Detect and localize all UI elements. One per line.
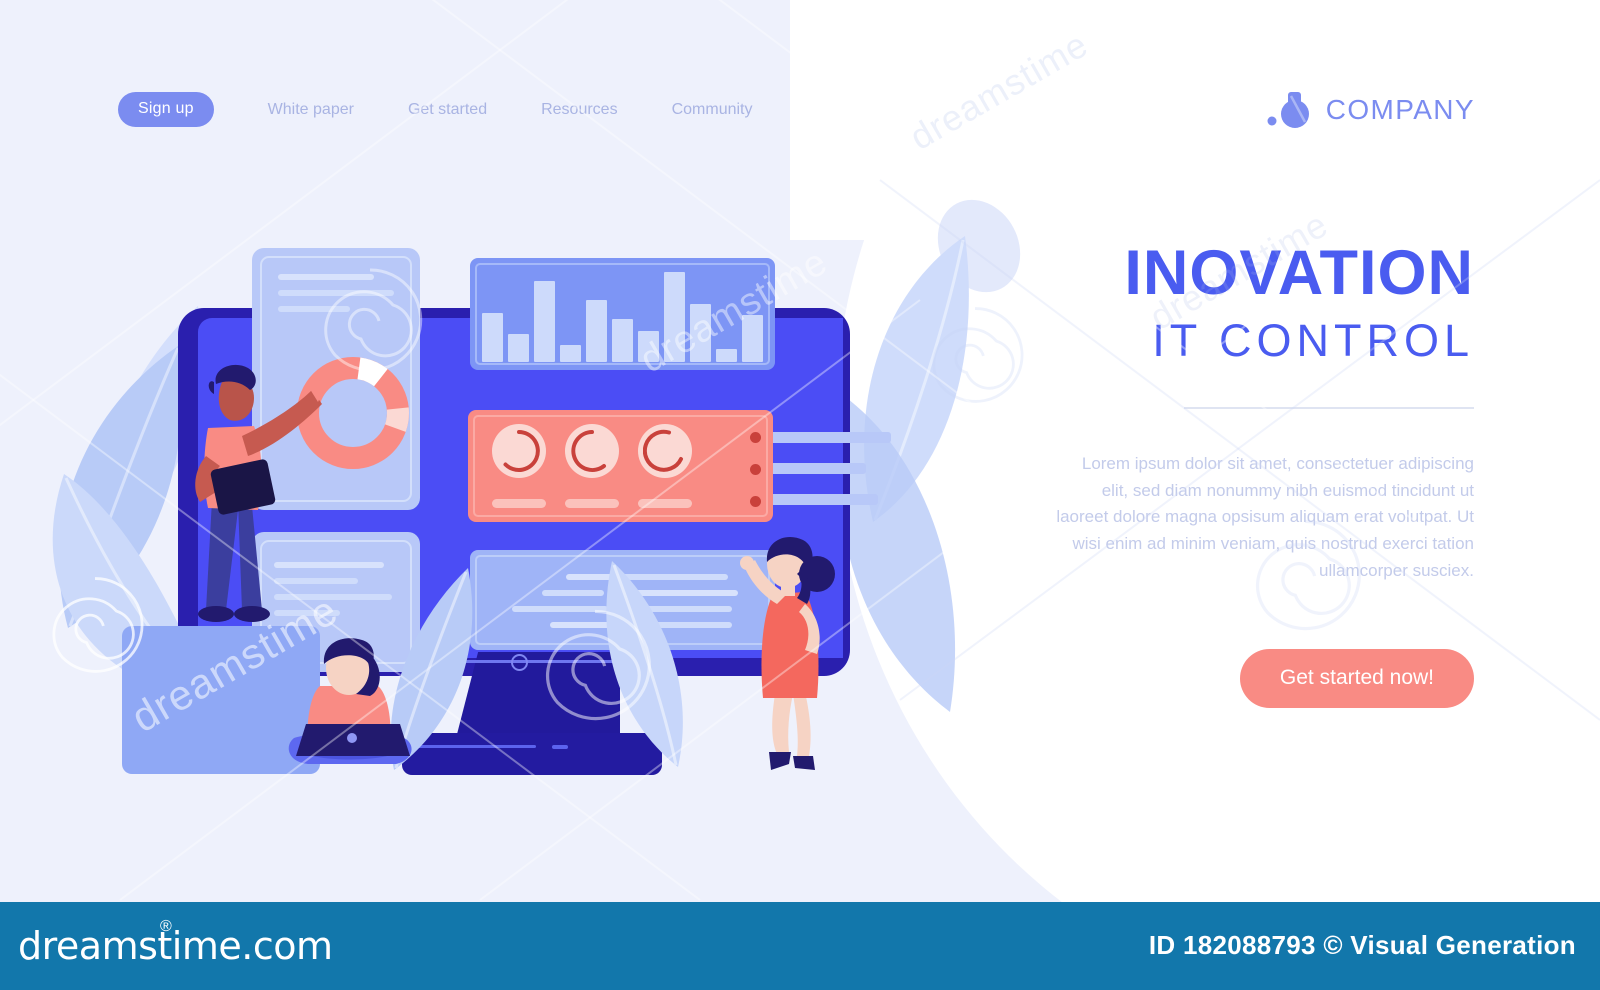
main-navigation: Sign up White paper Get started Resource… [118,92,752,127]
it-control-illustration [0,0,1000,900]
nav-link-resources[interactable]: Resources [541,101,617,119]
lead-1 [756,432,891,443]
leaf-decor-7 [590,555,700,775]
brand-name: COMPANY [1326,94,1475,126]
landing-page-hero: Sign up White paper Get started Resource… [0,0,1600,990]
monitor-base-indicator [552,745,568,749]
bar-chart-panel [470,258,775,370]
bar-10 [716,349,737,362]
knob-1[interactable] [492,424,546,478]
slider-2[interactable] [565,499,619,508]
brand-logo-group[interactable]: COMPANY [1266,88,1475,132]
hero-copy-block: INOVATION IT CONTROL Lorem ipsum dolor s… [1054,240,1474,708]
footer-watermark-bar: dreamstime.com ® ID 182088793 © Visual G… [0,902,1600,990]
standing-man-with-tablet [186,360,326,645]
divider-rule [1184,407,1474,409]
slider-group [492,499,692,508]
company-drop-logo-icon [1266,88,1314,132]
lead-3 [756,494,878,505]
status-dot-group [750,432,761,507]
get-started-button[interactable]: Get started now! [1240,649,1474,708]
bar-7 [638,331,659,362]
bar-11 [742,315,763,362]
slider-3[interactable] [638,499,692,508]
seated-person-with-laptop [278,632,428,785]
registered-mark-icon: ® [160,918,172,936]
knob-3[interactable] [638,424,692,478]
bar-5 [586,300,607,362]
bar-8 [664,272,685,362]
knob-2[interactable] [565,424,619,478]
nav-link-get-started[interactable]: Get started [408,101,487,119]
nav-link-community[interactable]: Community [672,101,753,119]
donut-hole [322,382,384,444]
control-knob-panel [468,410,773,522]
knob-group [492,424,692,478]
bar-4 [560,345,581,362]
nav-link-white-paper[interactable]: White paper [268,101,354,119]
bar-9 [690,304,711,362]
bar-1 [482,313,503,362]
page-title: INOVATION [1054,240,1474,306]
status-dot-3 [750,496,761,507]
bar-2 [508,334,529,362]
image-credit: ID 182088793 © Visual Generation [1149,930,1576,961]
status-dot-1 [750,432,761,443]
page-subtitle: IT CONTROL [1054,312,1474,371]
bar-6 [612,319,633,362]
standing-woman-pointing [735,534,845,779]
hero-paragraph: Lorem ipsum dolor sit amet, consectetuer… [1054,451,1474,585]
slider-1[interactable] [492,499,546,508]
bar-3 [534,281,555,362]
webcam-dot-icon [511,654,528,671]
dreamstime-logo: dreamstime.com [18,924,332,968]
signup-button[interactable]: Sign up [118,92,214,127]
status-dot-2 [750,464,761,475]
bar-chart-bars [482,268,763,362]
